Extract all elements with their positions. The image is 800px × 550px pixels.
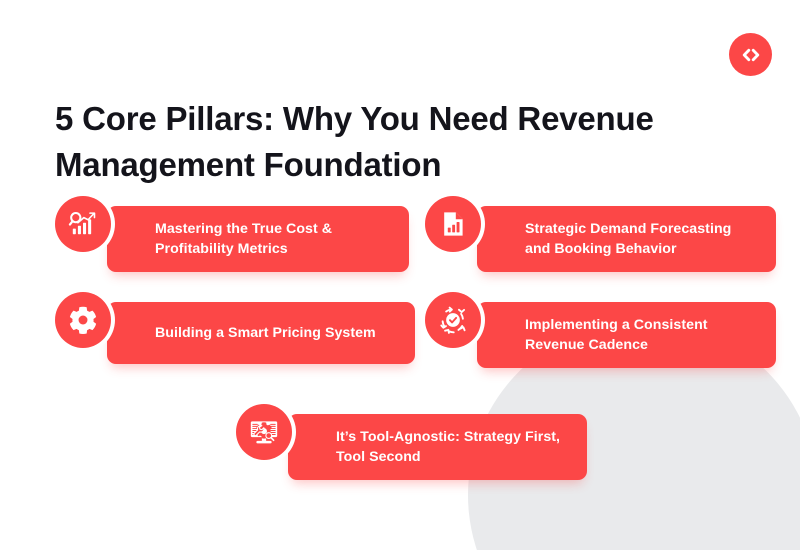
page-title: 5 Core Pillars: Why You Need Revenue Man…	[55, 96, 695, 187]
pillar-card-3[interactable]: Building a Smart Pricing System	[55, 292, 111, 348]
magnifier-bar-chart-icon	[66, 207, 100, 241]
pillar-card-5-label: It’s Tool-Agnostic: Strategy First, Tool…	[336, 427, 571, 467]
pillar-card-4-body: Implementing a Consistent Revenue Cadenc…	[477, 302, 776, 368]
document-bar-chart-icon	[437, 208, 469, 240]
pillar-card-2-body: Strategic Demand Forecasting and Booking…	[477, 206, 776, 272]
pillar-card-3-label: Building a Smart Pricing System	[155, 323, 376, 343]
pillar-card-5-body: It’s Tool-Agnostic: Strategy First, Tool…	[288, 414, 587, 480]
pillar-card-4-icon-circle	[425, 292, 481, 348]
pillar-card-5[interactable]: It’s Tool-Agnostic: Strategy First, Tool…	[236, 404, 292, 460]
pillar-card-1-body: Mastering the True Cost & Profitability …	[107, 206, 409, 272]
pillar-card-2-label: Strategic Demand Forecasting and Booking…	[525, 219, 760, 259]
pillar-card-5-icon-circle	[236, 404, 292, 460]
gear-icon	[67, 304, 99, 336]
pillar-card-3-body: Building a Smart Pricing System	[107, 302, 415, 364]
logo-badge[interactable]	[729, 33, 772, 76]
pillar-card-4[interactable]: Implementing a Consistent Revenue Cadenc…	[425, 292, 481, 348]
slide-canvas: 5 Core Pillars: Why You Need Revenue Man…	[0, 0, 800, 550]
code-brackets-icon	[740, 44, 762, 66]
pillar-card-4-label: Implementing a Consistent Revenue Cadenc…	[525, 315, 760, 355]
pillar-card-1-label: Mastering the True Cost & Profitability …	[155, 219, 393, 259]
monitor-gear-wrench-icon	[247, 415, 281, 449]
pillar-card-3-icon-circle	[55, 292, 111, 348]
pillar-card-1-icon-circle	[55, 196, 111, 252]
pillar-card-2-icon-circle	[425, 196, 481, 252]
pillar-card-1[interactable]: Mastering the True Cost & Profitability …	[55, 196, 111, 252]
cycle-check-icon	[435, 302, 471, 338]
pillar-card-2[interactable]: Strategic Demand Forecasting and Booking…	[425, 196, 481, 252]
